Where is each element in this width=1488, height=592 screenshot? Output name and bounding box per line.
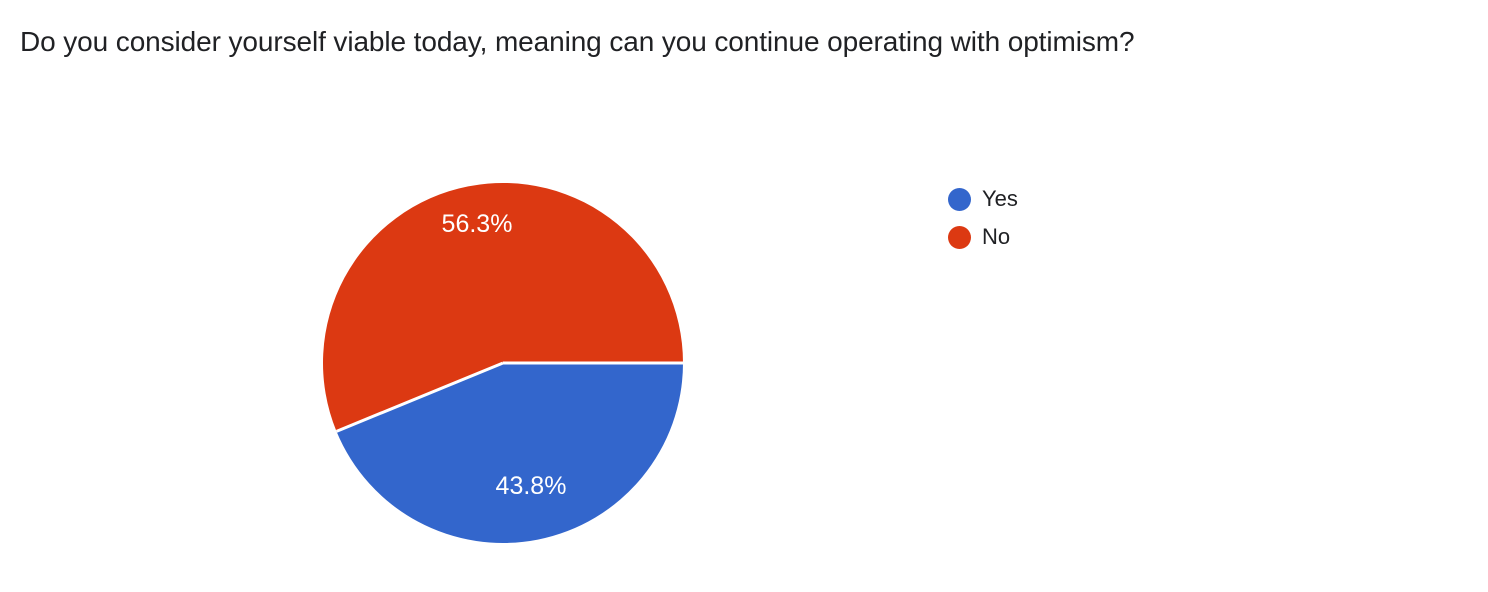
slice-label-no: 56.3%	[442, 210, 513, 238]
pie-chart: 56.3% 43.8% Yes No	[0, 100, 1488, 592]
legend-label-yes: Yes	[982, 186, 1018, 212]
legend-item-no[interactable]: No	[948, 218, 1198, 256]
legend-swatch-circle-icon	[948, 226, 971, 249]
legend-label-no: No	[982, 224, 1010, 250]
legend-item-yes[interactable]: Yes	[948, 180, 1198, 218]
slice-label-yes: 43.8%	[496, 472, 567, 500]
chart-page: Do you consider yourself viable today, m…	[0, 0, 1488, 592]
legend-swatch-circle-icon	[948, 188, 971, 211]
chart-legend: Yes No	[948, 180, 1198, 256]
pie-chart-svg: 56.3% 43.8%	[0, 100, 1488, 592]
page-title: Do you consider yourself viable today, m…	[20, 24, 1440, 60]
